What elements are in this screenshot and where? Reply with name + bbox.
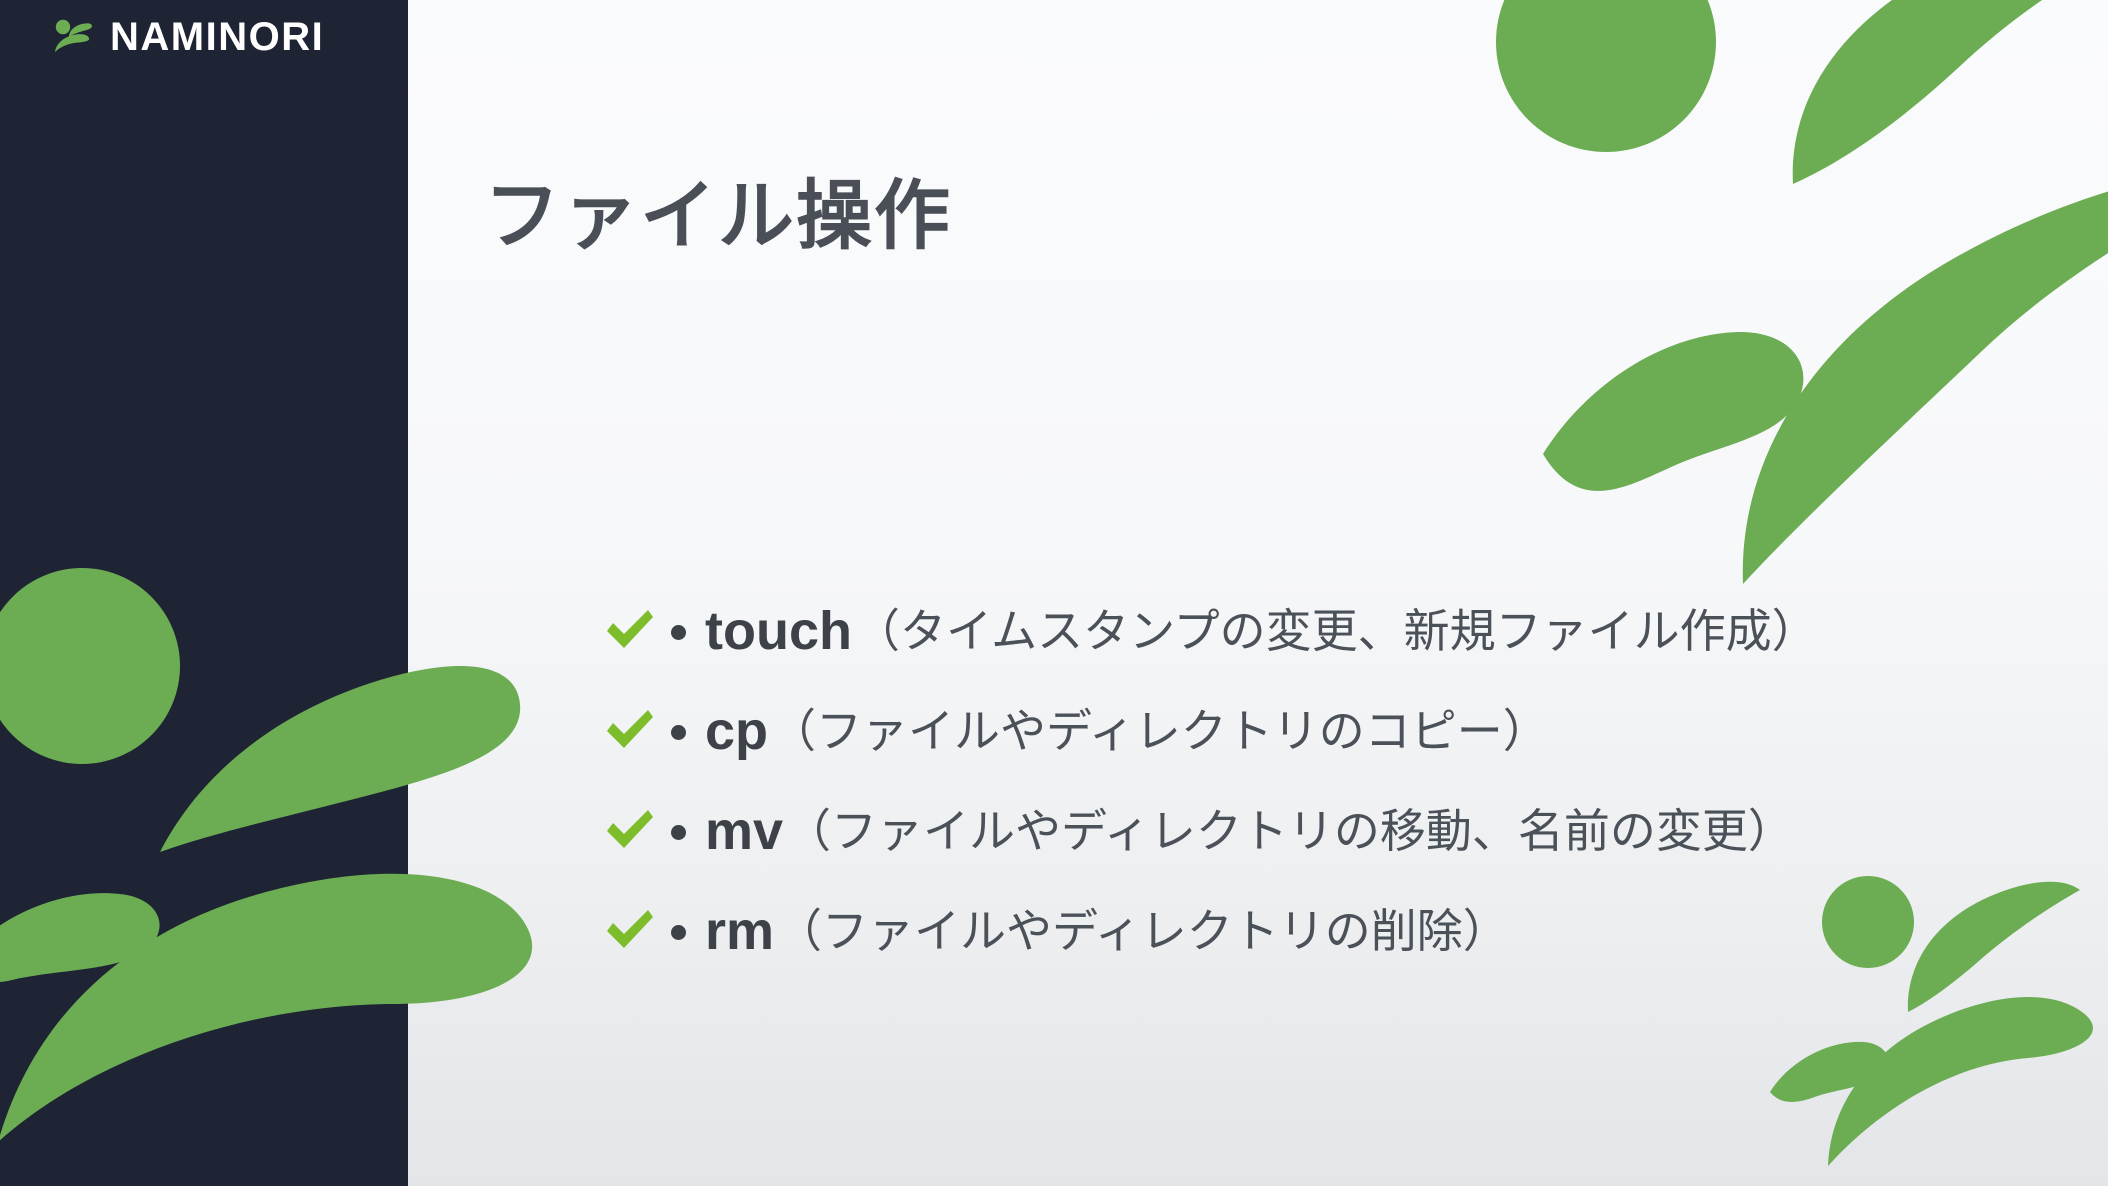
bullet-dot-icon xyxy=(671,725,686,740)
command-name: mv xyxy=(705,804,783,858)
slide-content: ファイル操作 touch （タイムスタンプの変更、新規ファイル作成） cp （フ… xyxy=(408,0,2108,1186)
bullet-dot-icon xyxy=(671,825,686,840)
brand-logo: NAMINORI xyxy=(48,14,324,60)
command-list: touch （タイムスタンプの変更、新規ファイル作成） cp （ファイルやディレ… xyxy=(603,595,1818,967)
command-description: （ファイルやディレクトリのコピー） xyxy=(770,708,1549,754)
brand-name: NAMINORI xyxy=(110,17,324,57)
command-description: （ファイルやディレクトリの削除） xyxy=(776,908,1509,954)
list-item: rm （ファイルやディレクトリの削除） xyxy=(603,895,1818,967)
bullet-dot-icon xyxy=(671,925,686,940)
command-name: touch xyxy=(705,604,852,658)
command-name: cp xyxy=(705,704,768,758)
command-description: （タイムスタンプの変更、新規ファイル作成） xyxy=(854,608,1818,654)
check-icon xyxy=(603,704,657,758)
list-item: touch （タイムスタンプの変更、新規ファイル作成） xyxy=(603,595,1818,667)
slide-canvas: NAMINORI ファイル操作 touch （タイムスタンプの変更、新規ファイル… xyxy=(0,0,2108,1186)
naminori-leaf-mark-icon xyxy=(48,14,94,60)
command-name: rm xyxy=(705,904,774,958)
bullet-dot-icon xyxy=(671,625,686,640)
sidebar-panel xyxy=(0,0,408,1186)
list-item: mv （ファイルやディレクトリの移動、名前の変更） xyxy=(603,795,1818,867)
list-item: cp （ファイルやディレクトリのコピー） xyxy=(603,695,1818,767)
check-icon xyxy=(603,804,657,858)
page-title: ファイル操作 xyxy=(484,175,952,259)
command-description: （ファイルやディレクトリの移動、名前の変更） xyxy=(785,808,1794,854)
check-icon xyxy=(603,904,657,958)
check-icon xyxy=(603,604,657,658)
